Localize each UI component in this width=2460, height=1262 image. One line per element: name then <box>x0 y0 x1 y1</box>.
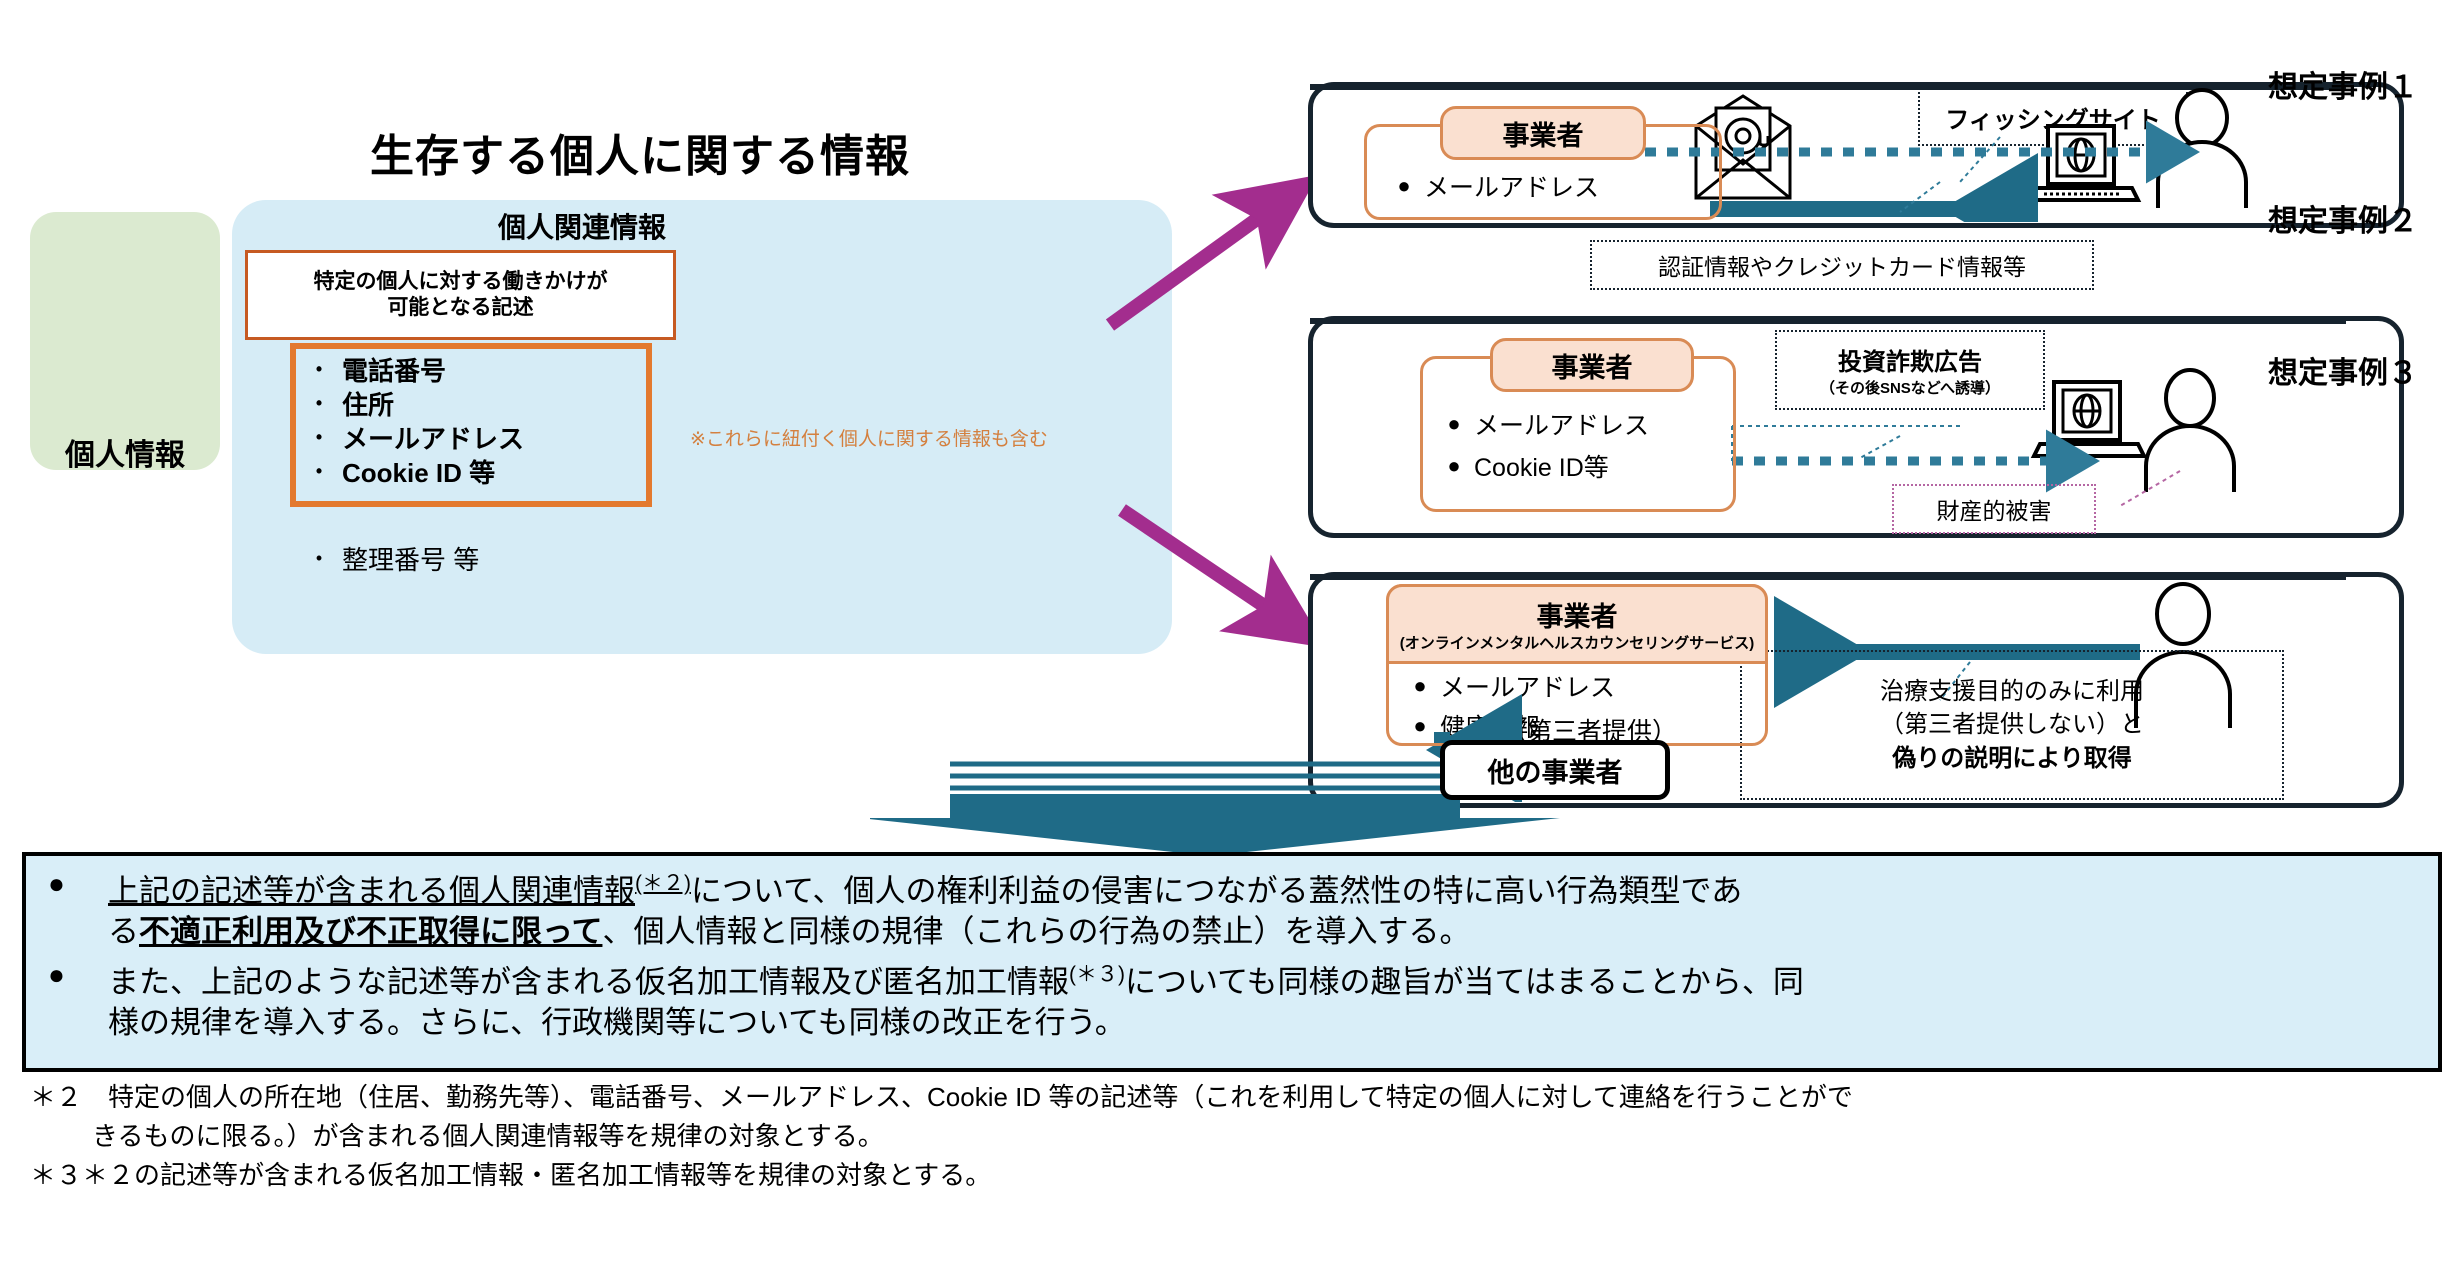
business-title: 事業者 <box>1537 595 1618 634</box>
summary-b1-part4: 、個人情報と同様の規律（これらの行為の禁止）を導入する。 <box>602 914 1470 949</box>
case-2-bottom-note-label: 財産的被害 <box>1937 492 2052 526</box>
case-3-explain-line-3: 偽りの説明により取得 <box>1892 742 2132 776</box>
case-3-label: 想定事例３ <box>2268 348 2418 392</box>
purple-arrow-up <box>1110 206 1275 325</box>
business-title: 事業者 <box>1503 114 1584 153</box>
case-3-explain-line-2: （第三者提供しない）と <box>1880 708 2144 742</box>
footnote-2-line-1: ＊２ 特定の個人の所在地（住居、勤務先等）、電話番号、メールアドレス、Cooki… <box>30 1078 2420 1117</box>
summary-box: ● 上記の記述等が含まれる個人関連情報(＊２)について、個人の権利利益の侵害につ… <box>22 852 2442 1072</box>
footnote-3-line-1: ＊３＊２の記述等が含まれる仮名加工情報・匿名加工情報等を規律の対象とする。 <box>30 1156 2420 1195</box>
case-2-business-header: 事業者 <box>1490 338 1694 392</box>
case-2-bottom-note: 財産的被害 <box>1892 484 2096 534</box>
case-1-business-header: 事業者 <box>1440 106 1646 160</box>
summary-b2-part3: 様の規律を導入する。さらに、行政機関等についても同様の改正を行う。 <box>108 1005 1126 1040</box>
summary-b2-part1: また、上記のような記述等が含まれる仮名加工情報及び匿名加工情報 <box>108 964 1069 999</box>
other-business-label: 他の事業者 <box>1488 751 1623 790</box>
case-1-bottom-note: 認証情報やクレジットカード情報等 <box>1590 240 2094 290</box>
summary-b2-part2: についても同様の趣旨が当てはまることから、同 <box>1125 964 1804 999</box>
case-3-explain-line-1: 治療支援目的のみに利用 <box>1880 675 2144 709</box>
business-subtitle: (オンラインメンタルヘルスカウンセリングサービス) <box>1400 632 1755 653</box>
summary-b2-superscript: (＊３) <box>1069 963 1125 986</box>
business-title: 事業者 <box>1552 346 1633 385</box>
summary-b1-part3: る <box>108 914 139 949</box>
purple-arrow-down <box>1122 510 1282 618</box>
summary-bullet-1: ● 上記の記述等が含まれる個人関連情報(＊２)について、個人の権利利益の侵害につ… <box>26 870 2438 953</box>
summary-b1-superscript: (＊２) <box>635 872 691 895</box>
case-2-label: 想定事例２ <box>2268 196 2418 240</box>
case-3-business-header: 事業者 (オンラインメンタルヘルスカウンセリングサービス) <box>1386 584 1768 664</box>
summary-bullet-1-text: 上記の記述等が含まれる個人関連情報(＊２)について、個人の権利利益の侵害につなが… <box>108 870 1742 953</box>
summary-bullet-2-text: また、上記のような記述等が含まれる仮名加工情報及び匿名加工情報(＊３)についても… <box>108 961 1804 1044</box>
diagram-canvas: 生存する個人に関する情報 個人情報 個人関連情報 特定の個人に対する働きかけが … <box>0 0 2460 1262</box>
footnotes: ＊２ 特定の個人の所在地（住居、勤務先等）、電話番号、メールアドレス、Cooki… <box>30 1078 2420 1195</box>
case-3-explanation: 治療支援目的のみに利用 （第三者提供しない）と 偽りの説明により取得 <box>1740 650 2284 800</box>
summary-b1-strong: 不適正利用及び不正取得に限って <box>139 914 602 949</box>
footnote-2-line-2: きるものに限る。）が含まれる個人関連情報等を規律の対象とする。 <box>30 1117 2420 1156</box>
summary-b1-part2: について、個人の権利利益の侵害につながる蓋然性の特に高い行為類型であ <box>691 873 1742 908</box>
bullet-icon: ● <box>26 870 108 898</box>
summary-b1-part1: 上記の記述等が含まれる個人関連情報 <box>108 873 635 908</box>
case-1-bottom-note-label: 認証情報やクレジットカード情報等 <box>1658 248 2026 282</box>
bullet-icon: ● <box>26 961 108 989</box>
other-business-box: 他の事業者 <box>1440 740 1670 800</box>
summary-bullet-2: ● また、上記のような記述等が含まれる仮名加工情報及び匿名加工情報(＊３)につい… <box>26 961 2438 1044</box>
